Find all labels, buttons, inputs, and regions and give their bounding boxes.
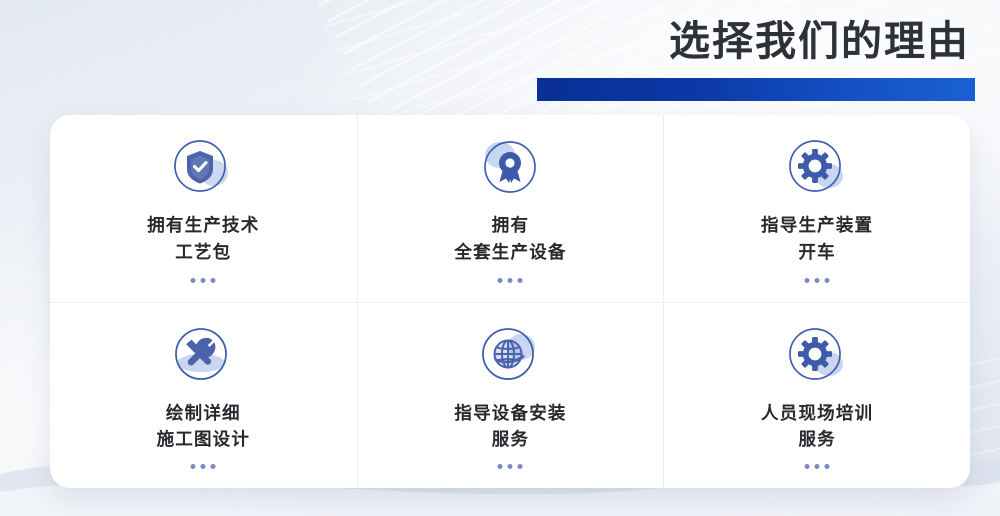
gear-icon bbox=[778, 133, 856, 203]
card-dots-indicator bbox=[191, 464, 216, 469]
page-header: 选择我们的理由 bbox=[415, 0, 975, 101]
feature-card-label: 人员现场培训 服务 bbox=[761, 400, 873, 453]
title-accent-bar bbox=[537, 78, 975, 101]
card-dots-indicator bbox=[805, 278, 830, 283]
feature-card-label: 绘制详细 施工图设计 bbox=[157, 400, 251, 453]
shield-check-icon bbox=[164, 133, 242, 203]
card-dots-indicator bbox=[805, 464, 830, 469]
feature-card-3[interactable]: 指导生产装置 开车 bbox=[663, 115, 970, 302]
feature-card-2[interactable]: 拥有 全套生产设备 bbox=[357, 115, 664, 302]
feature-card-label: 指导设备安装 服务 bbox=[454, 400, 566, 453]
features-panel: 拥有生产技术 工艺包 拥有 全套生产设备 bbox=[50, 115, 970, 488]
page-title: 选择我们的理由 bbox=[415, 0, 975, 62]
feature-card-label: 拥有生产技术 工艺包 bbox=[147, 212, 259, 265]
globe-network-icon bbox=[471, 321, 549, 391]
gear-icon bbox=[778, 321, 856, 391]
feature-card-6[interactable]: 人员现场培训 服务 bbox=[663, 302, 970, 489]
feature-card-label: 指导生产装置 开车 bbox=[761, 212, 873, 265]
feature-card-label: 拥有 全套生产设备 bbox=[454, 212, 566, 265]
card-dots-indicator bbox=[498, 278, 523, 283]
card-dots-indicator bbox=[191, 278, 216, 283]
tools-wrench-screwdriver-icon bbox=[164, 321, 242, 391]
award-medal-icon bbox=[471, 133, 549, 203]
feature-card-4[interactable]: 绘制详细 施工图设计 bbox=[50, 302, 357, 489]
feature-card-5[interactable]: 指导设备安装 服务 bbox=[357, 302, 664, 489]
card-dots-indicator bbox=[498, 464, 523, 469]
feature-card-1[interactable]: 拥有生产技术 工艺包 bbox=[50, 115, 357, 302]
